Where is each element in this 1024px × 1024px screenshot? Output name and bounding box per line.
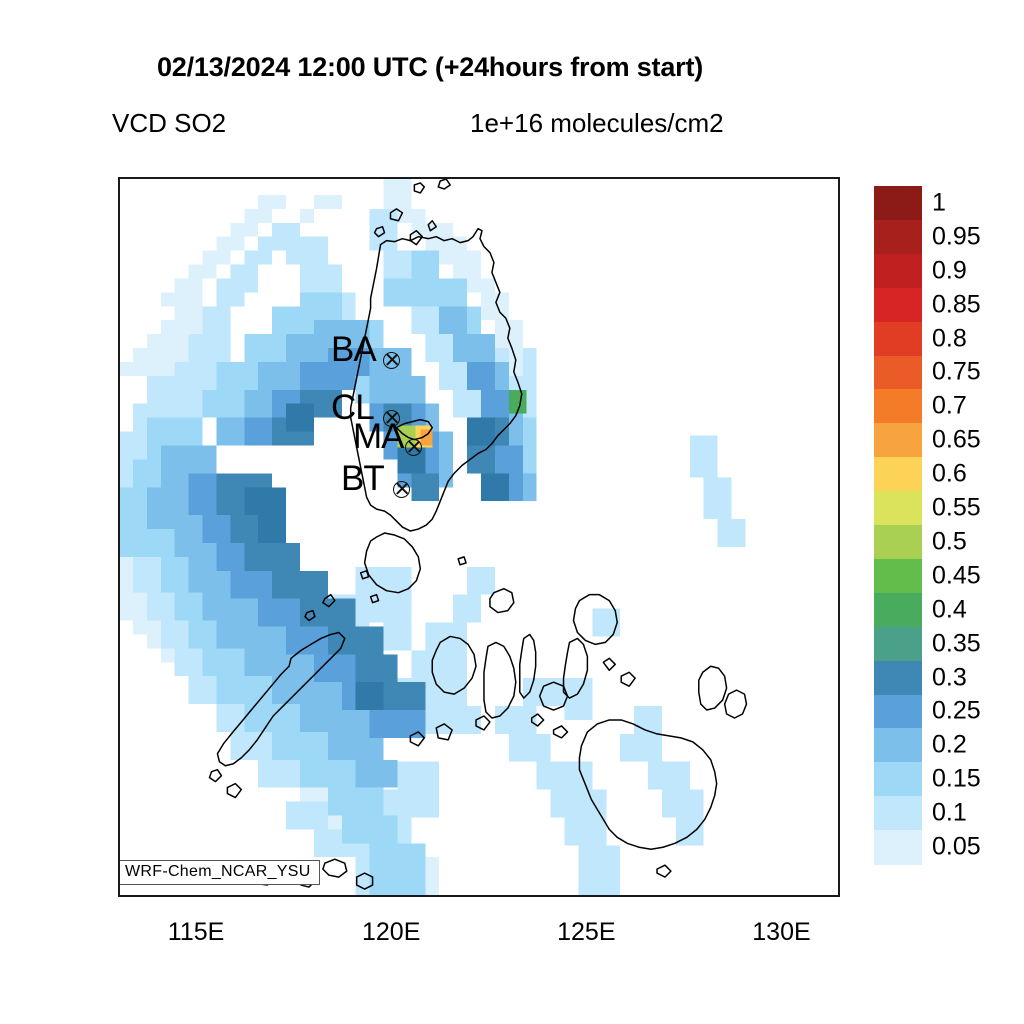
colorbar-tick-label-0.55: 0.55	[932, 494, 981, 523]
colorbar-tick-label-0.9: 0.9	[932, 256, 967, 285]
colorbar-tick-label-0.85: 0.85	[932, 290, 981, 319]
station-marker-icon-BA[interactable]	[383, 352, 400, 369]
colorbar-tick-label-0.2: 0.2	[932, 731, 967, 760]
y-tick-11	[118, 608, 120, 610]
colorbar-band-0.85	[874, 288, 922, 323]
y-tick-17	[118, 340, 120, 342]
colorbar-tick-label-0.8: 0.8	[932, 324, 967, 353]
colorbar[interactable]	[874, 186, 922, 864]
map-plot-area[interactable]: BACLMABT WRF-Chem_NCAR_YSU	[118, 177, 840, 897]
colorbar-tick-label-0.7: 0.7	[932, 392, 967, 421]
colorbar-tick-label-0.5: 0.5	[932, 527, 967, 556]
colorbar-band-1	[874, 186, 922, 221]
x-axis-label-130E: 130E	[752, 918, 810, 947]
y-tick-20	[118, 206, 120, 208]
x-axis-label-115E: 115E	[168, 918, 225, 947]
colorbar-tick-label-0.45: 0.45	[932, 561, 981, 590]
colorbar-band-0.75	[874, 356, 922, 391]
colorbar-band-0.9	[874, 254, 922, 289]
colorbar-tick-label-0.75: 0.75	[932, 358, 981, 387]
colorbar-tick-label-0.35: 0.35	[932, 629, 981, 658]
station-marker-icon-BT[interactable]	[393, 481, 410, 498]
colorbar-band-0.65	[874, 423, 922, 458]
colorbar-tick-label-0.1: 0.1	[932, 799, 967, 828]
x-axis-label-120E: 120E	[362, 918, 420, 947]
colorbar-band-0.4	[874, 593, 922, 628]
x-tick-top-125	[588, 177, 590, 179]
colorbar-tick-label-0.4: 0.4	[932, 595, 967, 624]
x-tick-top-130	[783, 177, 785, 179]
x-tick-top-120	[393, 177, 395, 179]
colorbar-band-0.55	[874, 491, 922, 526]
colorbar-tick-label-0.25: 0.25	[932, 697, 981, 726]
y-tick-6	[118, 832, 120, 834]
y-tick-15	[118, 429, 120, 431]
colorbar-band-0.95	[874, 220, 922, 255]
colorbar-tick-label-1: 1	[932, 188, 946, 217]
colorbar-tick-label-0.6: 0.6	[932, 460, 967, 489]
colorbar-band-0.5	[874, 525, 922, 560]
y-tick-9	[118, 698, 120, 700]
colorbar-band-0.1	[874, 796, 922, 831]
station-marker-icon-MA[interactable]	[405, 439, 422, 456]
colorbar-band-0.45	[874, 559, 922, 594]
colorbar-tick-label-0.3: 0.3	[932, 663, 967, 692]
units-label: 1e+16 molecules/cm2	[470, 108, 724, 139]
station-label-MA: MA	[353, 419, 404, 454]
colorbar-band-0.6	[874, 457, 922, 492]
colorbar-tick-label-0.15: 0.15	[932, 765, 981, 794]
y-tick-10	[118, 653, 120, 655]
variable-label: VCD SO2	[112, 108, 226, 139]
x-tick-top-115	[198, 177, 200, 179]
colorbar-band-0.3	[874, 661, 922, 696]
y-tick-18	[118, 295, 120, 297]
y-tick-8	[118, 742, 120, 744]
colorbar-band-0.15	[874, 762, 922, 797]
colorbar-band-0.25	[874, 695, 922, 730]
y-tick-7	[118, 787, 120, 789]
colorbar-tick-label-0.05: 0.05	[932, 833, 981, 862]
y-tick-12	[118, 564, 120, 566]
colorbar-band-0.35	[874, 627, 922, 662]
y-tick-16	[118, 385, 120, 387]
station-marker-layer: BACLMABT	[120, 179, 838, 895]
colorbar-band-0.05	[874, 830, 922, 865]
y-tick-14	[118, 474, 120, 476]
x-axis-label-125E: 125E	[557, 918, 615, 947]
station-label-BT: BT	[341, 461, 384, 496]
colorbar-tick-label-0.95: 0.95	[932, 222, 981, 251]
page-title: 02/13/2024 12:00 UTC (+24hours from star…	[0, 52, 860, 83]
y-tick-19	[118, 251, 120, 253]
colorbar-band-0.2	[874, 728, 922, 763]
model-watermark: WRF-Chem_NCAR_YSU	[118, 860, 320, 885]
y-tick-13	[118, 519, 120, 521]
colorbar-band-0.8	[874, 322, 922, 357]
colorbar-band-0.7	[874, 389, 922, 424]
station-label-BA: BA	[331, 332, 376, 367]
colorbar-tick-label-0.65: 0.65	[932, 426, 981, 455]
